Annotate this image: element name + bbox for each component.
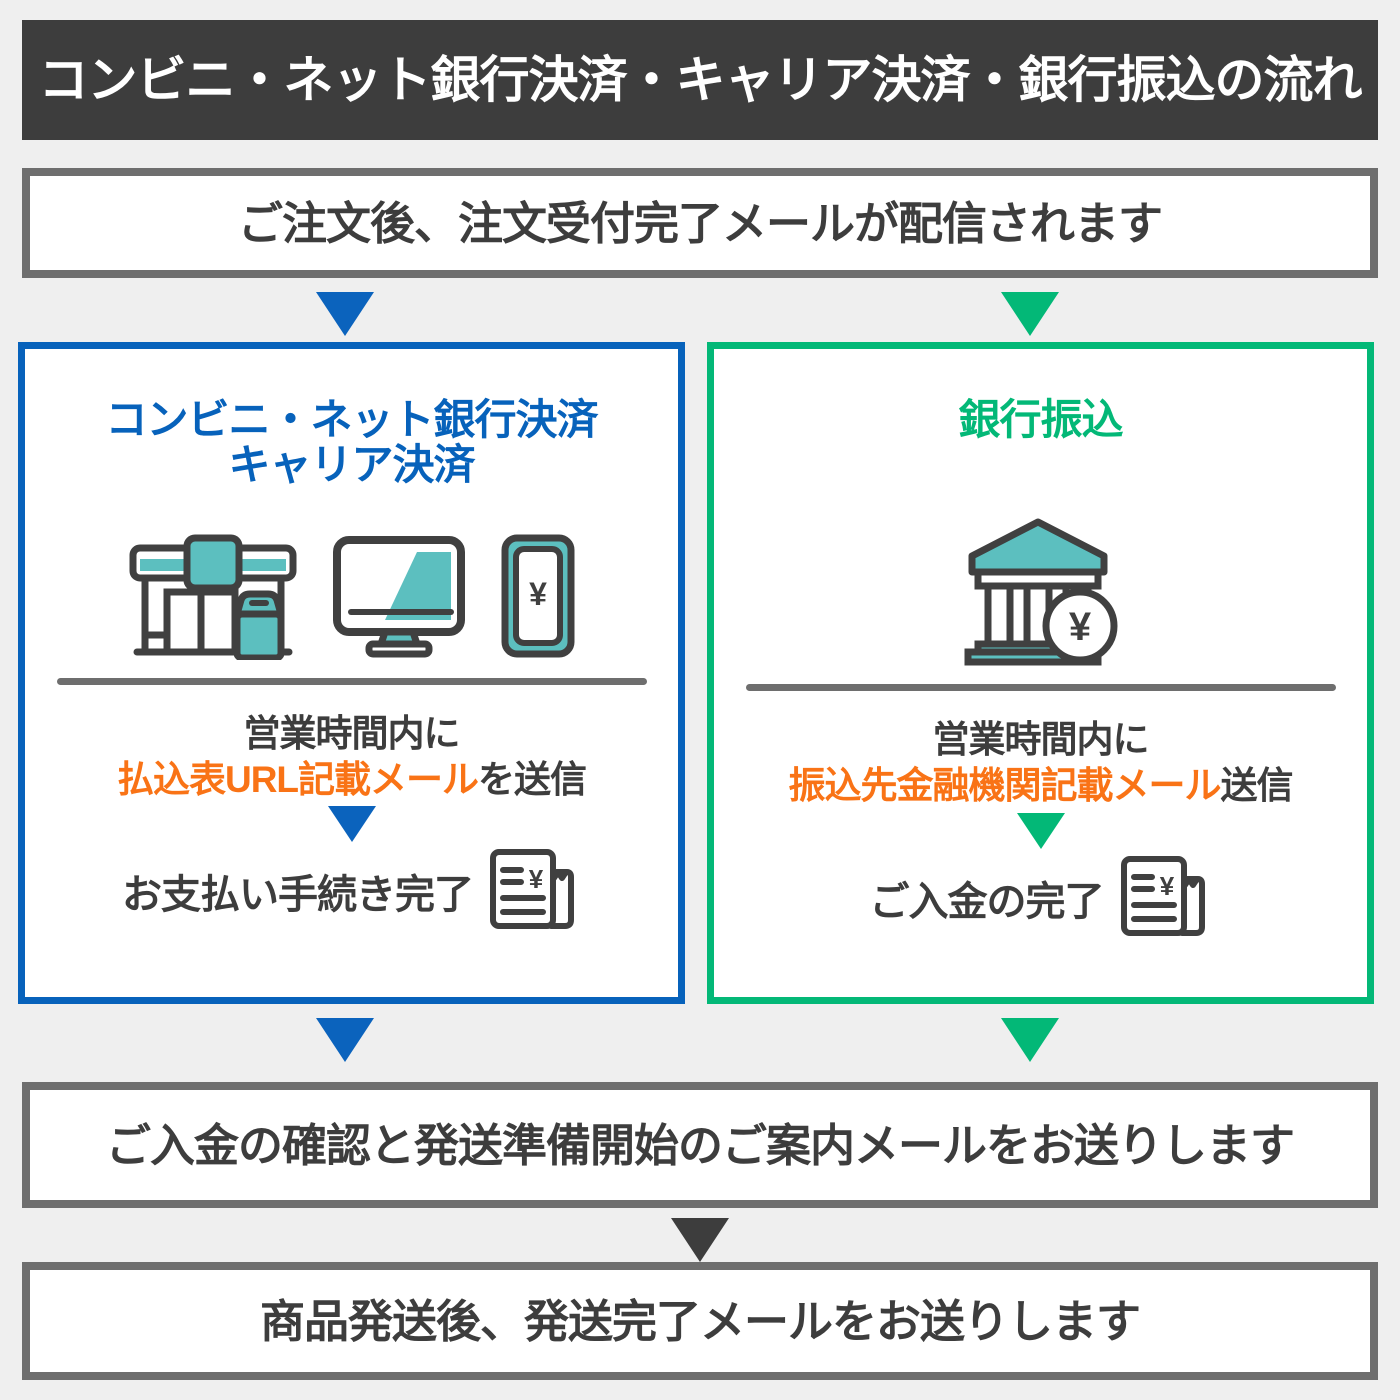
svg-text:¥: ¥ [529,864,544,894]
arrow-down-bank-inner [1017,813,1065,849]
bank-result-row: ご入金の完了 ¥ [870,853,1212,943]
svg-text:¥: ¥ [1159,871,1174,901]
panel-bank-transfer: 銀行振込 ¥ [707,342,1374,1004]
conveni-note-highlight: 払込表URL記載メール [117,759,478,800]
arrow-down-to-bank-panel [1001,292,1059,336]
svg-text:¥: ¥ [529,576,547,612]
arrow-down-to-shipping-step [671,1218,729,1262]
step-order-label: ご注文後、注文受付完了メールが配信されます [238,201,1162,246]
convenience-store-icon [123,532,303,660]
smartphone-yen-icon: ¥ [495,532,581,660]
panel-convenience-payment: コンビニ・ネット銀行決済 キャリア決済 [18,342,685,1004]
conveni-note-line1: 営業時間内に [117,711,586,757]
bank-icon-row: ¥ [956,516,1126,666]
step-ship-label: 商品発送後、発送完了メールをお送りします [260,1299,1140,1344]
bank-note-line1: 営業時間内に [789,717,1293,763]
page-title: コンビニ・ネット銀行決済・キャリア決済・銀行振込の流れ [39,55,1362,105]
payment-flow-diagram: コンビニ・ネット銀行決済・キャリア決済・銀行振込の流れ ご注文後、注文受付完了メ… [0,0,1400,1400]
receipt-yen-icon: ¥ [481,846,581,936]
bank-note-suffix: 送信 [1221,765,1293,806]
panel-conveni-title: コンビニ・ネット銀行決済 キャリア決済 [105,397,597,488]
bank-divider [746,684,1336,691]
arrow-down-from-bank-panel [1001,1018,1059,1062]
arrow-down-from-conveni-panel [316,1018,374,1062]
svg-text:¥: ¥ [1068,605,1091,649]
bank-note-line2: 振込先金融機関記載メール送信 [789,763,1293,809]
desktop-monitor-icon [329,532,469,660]
bank-result-label: ご入金の完了 [870,869,1104,927]
conveni-result-label: お支払い手続き完了 [122,862,473,920]
conveni-note: 営業時間内に 払込表URL記載メールを送信 [117,711,586,803]
bank-note: 営業時間内に 振込先金融機関記載メール送信 [789,717,1293,809]
conveni-result-row: お支払い手続き完了 ¥ [122,846,581,936]
arrow-down-to-conveni-panel [316,292,374,336]
conveni-note-suffix: を送信 [478,759,586,800]
panel-bank-title: 銀行振込 [958,397,1122,442]
bank-building-yen-icon: ¥ [956,516,1126,666]
conveni-icon-row: ¥ [123,510,581,660]
bank-note-highlight: 振込先金融機関記載メール [789,765,1221,806]
step-box-order-confirmation: ご注文後、注文受付完了メールが配信されます [22,168,1378,278]
step-box-shipping-complete: 商品発送後、発送完了メールをお送りします [22,1262,1378,1380]
conveni-note-line2: 払込表URL記載メールを送信 [117,757,586,803]
step-confirm-label: ご入金の確認と発送準備開始のご案内メールをお送りします [106,1123,1294,1168]
receipt-yen-icon: ¥ [1112,853,1212,943]
arrow-down-conveni-inner [328,806,376,842]
conveni-divider [57,678,647,685]
diagram-header: コンビニ・ネット銀行決済・キャリア決済・銀行振込の流れ [22,20,1378,140]
step-box-payment-confirmed: ご入金の確認と発送準備開始のご案内メールをお送りします [22,1082,1378,1208]
